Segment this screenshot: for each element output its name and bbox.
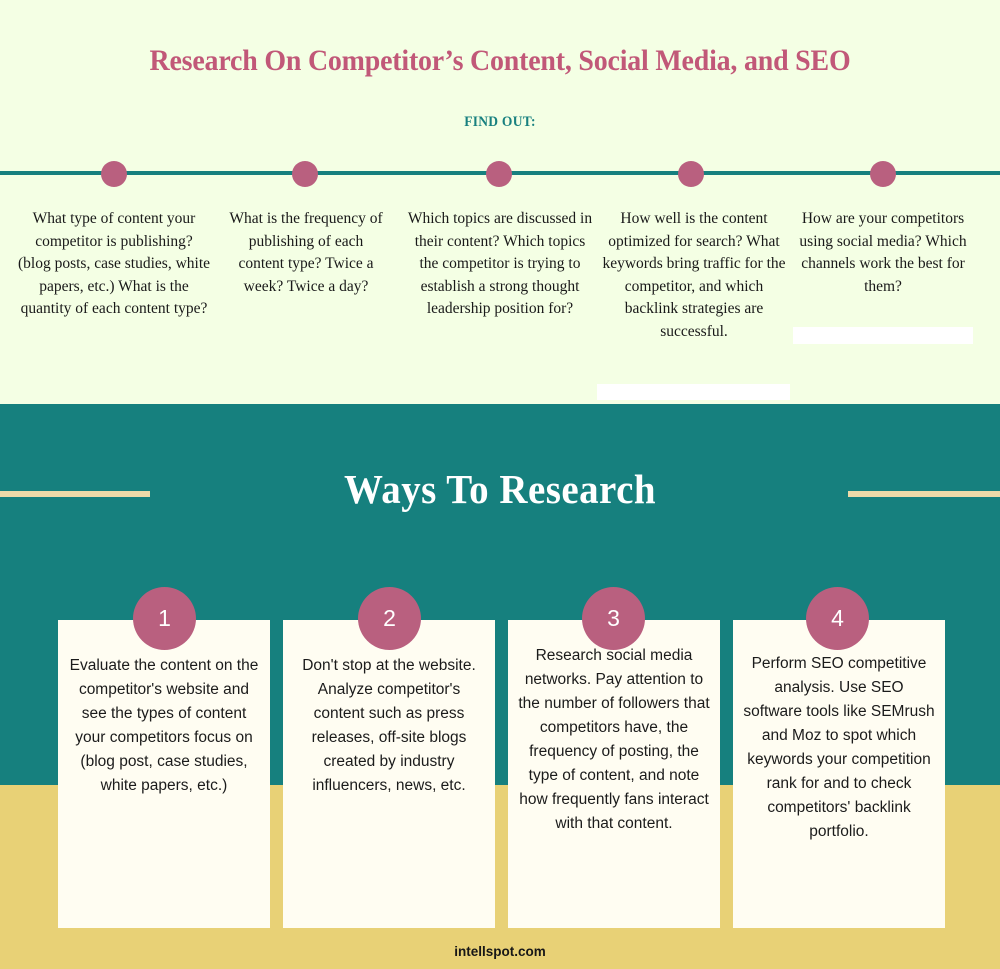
infographic-canvas: Research On Competitor’s Content, Social… bbox=[0, 0, 1000, 969]
timeline-text-2: What is the frequency of publishing of e… bbox=[226, 208, 386, 298]
research-card-4-text: Perform SEO competitive analysis. Use SE… bbox=[743, 652, 935, 844]
top-section: Research On Competitor’s Content, Social… bbox=[0, 0, 1000, 404]
research-card-3: Research social media networks. Pay atte… bbox=[508, 620, 720, 928]
timeline-dot-3 bbox=[486, 161, 512, 187]
page-title: Research On Competitor’s Content, Social… bbox=[35, 44, 965, 78]
step-badge-4: 4 bbox=[806, 587, 869, 650]
section-title: Ways To Research bbox=[25, 465, 975, 513]
step-badge-1: 1 bbox=[133, 587, 196, 650]
research-card-1-text: Evaluate the content on the competitor's… bbox=[68, 654, 260, 798]
timeline-text-1: What type of content your competitor is … bbox=[18, 208, 210, 321]
step-badge-2: 2 bbox=[358, 587, 421, 650]
timeline-dot-2 bbox=[292, 161, 318, 187]
timeline-dot-1 bbox=[101, 161, 127, 187]
research-card-3-text: Research social media networks. Pay atte… bbox=[518, 644, 710, 836]
research-card-1: Evaluate the content on the competitor's… bbox=[58, 620, 270, 928]
timeline-text-5: How are your competitors using social me… bbox=[794, 208, 972, 298]
artifact-rect-2 bbox=[793, 327, 973, 344]
find-out-label: FIND OUT: bbox=[50, 114, 950, 131]
artifact-rect-1 bbox=[597, 384, 790, 400]
timeline-dot-4 bbox=[678, 161, 704, 187]
research-card-4: Perform SEO competitive analysis. Use SE… bbox=[733, 620, 945, 928]
timeline-text-3: Which topics are discussed in their cont… bbox=[404, 208, 596, 321]
research-card-2: Don't stop at the website. Analyze compe… bbox=[283, 620, 495, 928]
timeline-text-4: How well is the content optimized for se… bbox=[600, 208, 788, 343]
footer-site-label: intellspot.com bbox=[0, 944, 1000, 959]
research-card-2-text: Don't stop at the website. Analyze compe… bbox=[293, 654, 485, 798]
step-badge-3: 3 bbox=[582, 587, 645, 650]
timeline-dot-5 bbox=[870, 161, 896, 187]
